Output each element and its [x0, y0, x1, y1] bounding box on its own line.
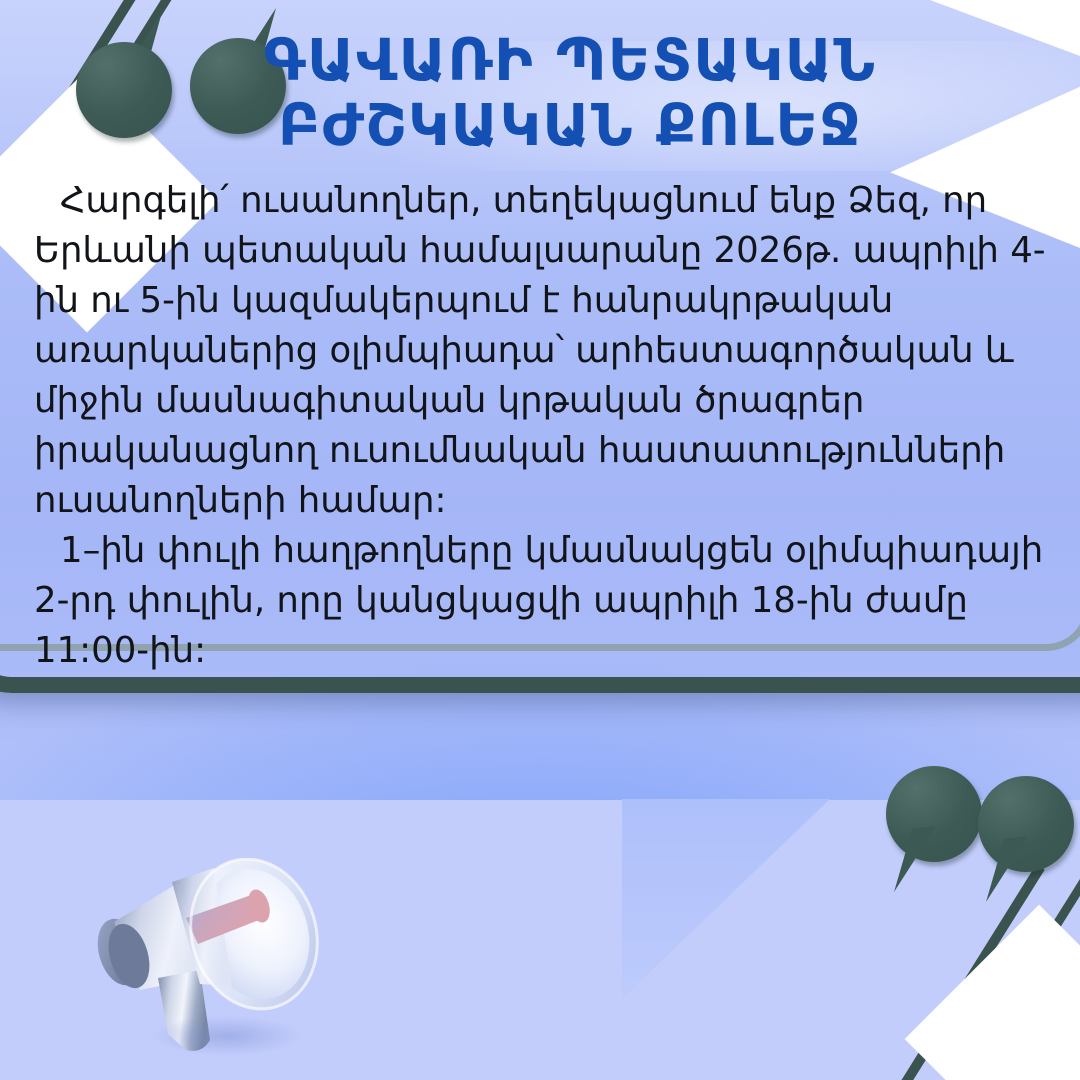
poster-canvas: ԳԱՎԱՌԻ ՊԵՏԱԿԱՆ ԲԺՇԿԱԿԱՆ ՔՈԼԵՋ Հարգելի՛ ո… [0, 0, 1080, 1080]
page-title: ԳԱՎԱՌԻ ՊԵՏԱԿԱՆ ԲԺՇԿԱԿԱՆ ՔՈԼԵՋ [150, 32, 990, 154]
speech-bubble-tail [622, 799, 830, 999]
closing-quote-mark-icon [978, 776, 1074, 872]
megaphone-shadow [122, 1008, 332, 1064]
closing-quote-mark-icon [886, 766, 982, 862]
announcement-paragraph-1: Հարգելի՛ ուսանողներ, տեղեկացնում ենք Ձեզ… [34, 176, 1046, 526]
quote-ball [886, 766, 982, 862]
title-line-1: ԳԱՎԱՌԻ ՊԵՏԱԿԱՆ [150, 32, 990, 89]
title-line-2: ԲԺՇԿԱԿԱՆ ՔՈԼԵՋ [150, 97, 990, 154]
corner-cut-bottom-right [905, 905, 1080, 1080]
megaphone-icon [82, 858, 352, 1073]
announcement-paragraph-2: 1–ին փուլի հաղթողները կմասնակցեն օլիմպիա… [34, 526, 1046, 676]
announcement-body: Հարգելի՛ ուսանողներ, տեղեկացնում ենք Ձեզ… [34, 176, 1046, 676]
quote-ball [978, 776, 1074, 872]
